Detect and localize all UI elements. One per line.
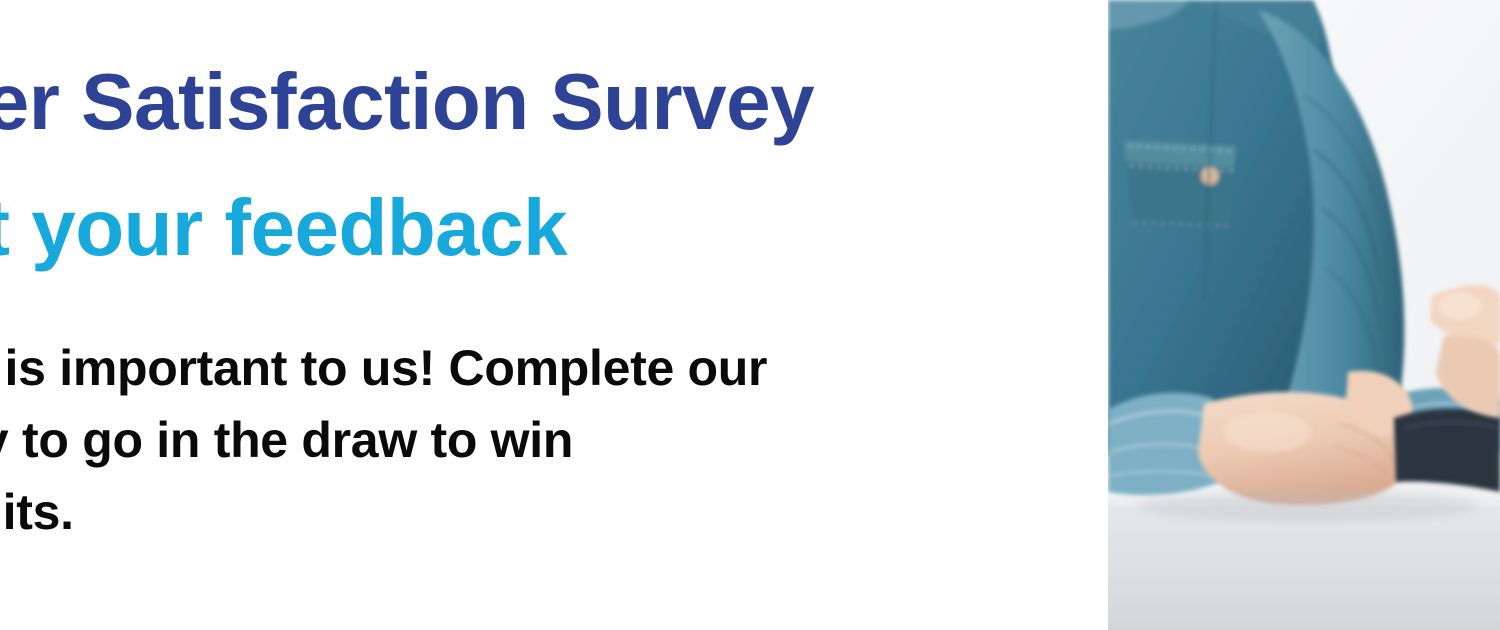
headline-line-1: Customer Satisfaction Survey [0,62,814,142]
banner-text-column: Customer Satisfaction Survey We want you… [0,0,1108,630]
phone-user-photo-illustration [1108,0,1500,630]
column-gutter [1100,0,1108,630]
survey-promo-banner: Customer Satisfaction Survey We want you… [0,0,1500,630]
headline-line-2: We want your feedback [0,188,567,268]
body-line-2: online survey to go in the draw to win [0,415,573,465]
body-line-3: $500 bill credits. [0,487,74,537]
banner-photo [1108,0,1500,630]
banner-text-inner: Customer Satisfaction Survey We want you… [0,0,1108,630]
body-line-1: Your opinion is important to us! Complet… [0,343,767,393]
